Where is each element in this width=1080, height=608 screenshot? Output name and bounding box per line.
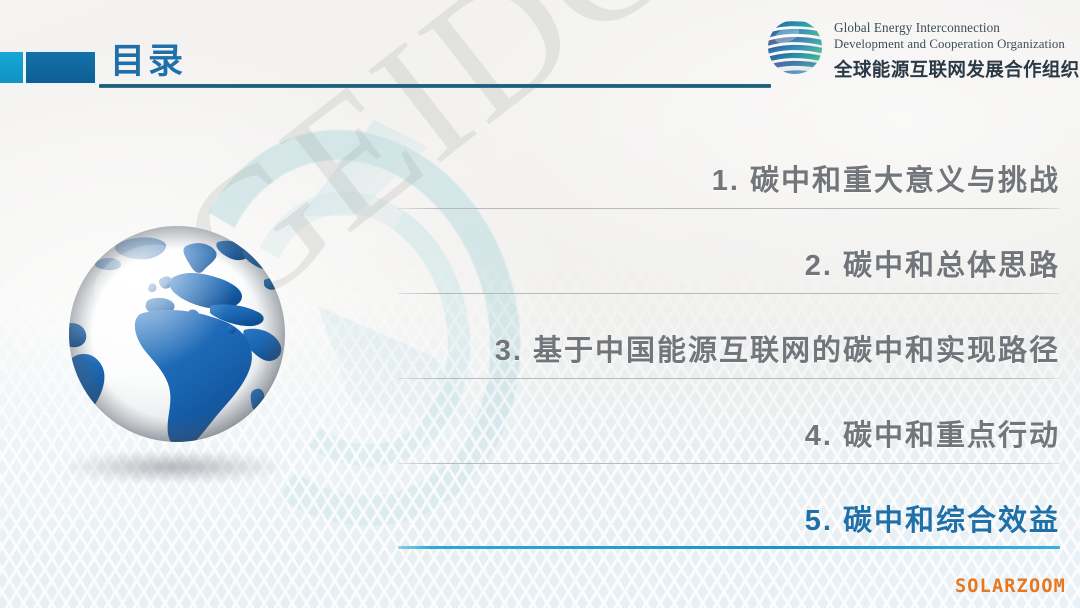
solarzoom-watermark: SOLARZOOM [955, 576, 1066, 597]
toc-item-label: 2. 碳中和总体思路 [805, 242, 1060, 284]
toc-item-2[interactable]: 2. 碳中和总体思路 [398, 209, 1060, 294]
toc-item-divider-active [398, 546, 1060, 550]
logo-english-line-2: Development and Cooperation Organization [834, 36, 1076, 52]
earth-globe-shadow [68, 452, 280, 482]
toc-item-1[interactable]: 1. 碳中和重大意义与挑战 [398, 124, 1060, 209]
toc-item-label: 4. 碳中和重点行动 [805, 412, 1060, 454]
toc-item-3[interactable]: 3. 基于中国能源互联网的碳中和实现路径 [398, 294, 1060, 379]
toc-item-4[interactable]: 4. 碳中和重点行动 [398, 379, 1060, 464]
striped-globe-logo-icon [762, 13, 828, 83]
toc-item-label: 5. 碳中和综合效益 [805, 497, 1060, 539]
toc-item-5[interactable]: 5. 碳中和综合效益 [398, 464, 1060, 549]
earth-globe-graphic [46, 214, 308, 500]
toc-item-label: 1. 碳中和重大意义与挑战 [712, 157, 1060, 199]
logo-english-line-1: Global Energy Interconnection [834, 20, 1076, 36]
earth-globe-3d-icon [58, 218, 296, 456]
toc-item-label: 3. 基于中国能源互联网的碳中和实现路径 [495, 327, 1060, 369]
organization-logo: Global Energy Interconnection Developmen… [760, 11, 1076, 87]
logo-text-group: Global Energy Interconnection Developmen… [834, 20, 1076, 82]
header-accent-block-cyan [0, 52, 23, 83]
table-of-contents-list: 1. 碳中和重大意义与挑战 2. 碳中和总体思路 3. 基于中国能源互联网的碳中… [398, 124, 1060, 549]
header-divider-rule [99, 84, 771, 88]
logo-chinese-line: 全球能源互联网发展合作组织 [834, 56, 1076, 82]
header-accent-block-blue [26, 52, 95, 83]
slide-canvas: GEIDCO 目录 [0, 0, 1080, 608]
page-title: 目录 [110, 33, 186, 84]
